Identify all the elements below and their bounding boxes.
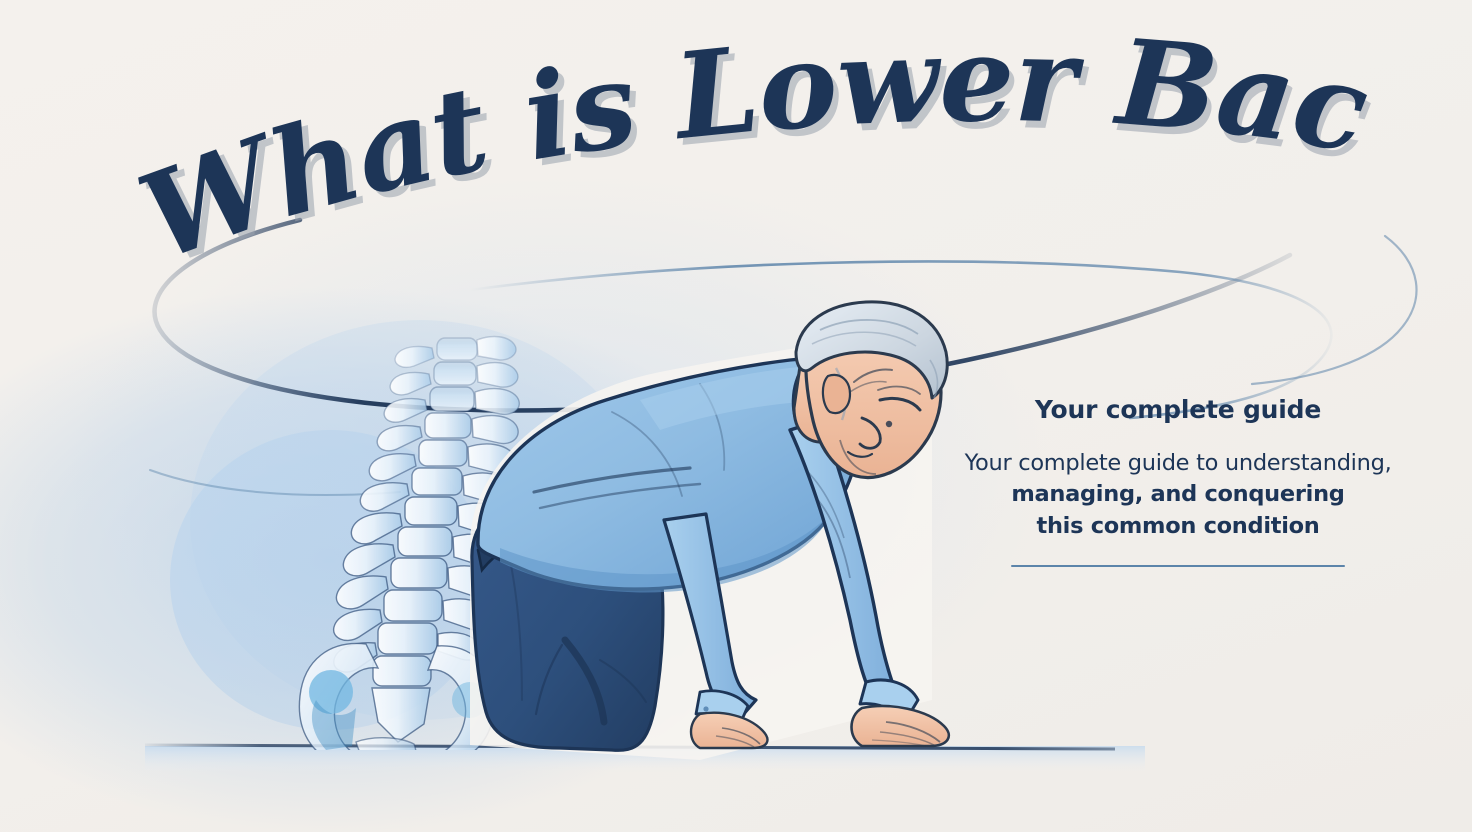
subtitle-heading: Your complete guide [958, 396, 1398, 424]
ear-detail [886, 421, 892, 427]
subtitle-line-3: this common condition [958, 511, 1398, 543]
subtitle-line-2: managing, and conquering [958, 479, 1398, 511]
cuff-button-left [703, 706, 708, 711]
subtitle-underline [1011, 565, 1345, 567]
subtitle-body: Your complete guide to understanding, ma… [958, 448, 1398, 544]
subtitle-line-1: Your complete guide to understanding, [958, 448, 1398, 480]
poster-canvas: What is Lower Back Pain What is Lower Ba… [0, 0, 1472, 832]
subtitle-block: Your complete guide Your complete guide … [958, 396, 1398, 567]
